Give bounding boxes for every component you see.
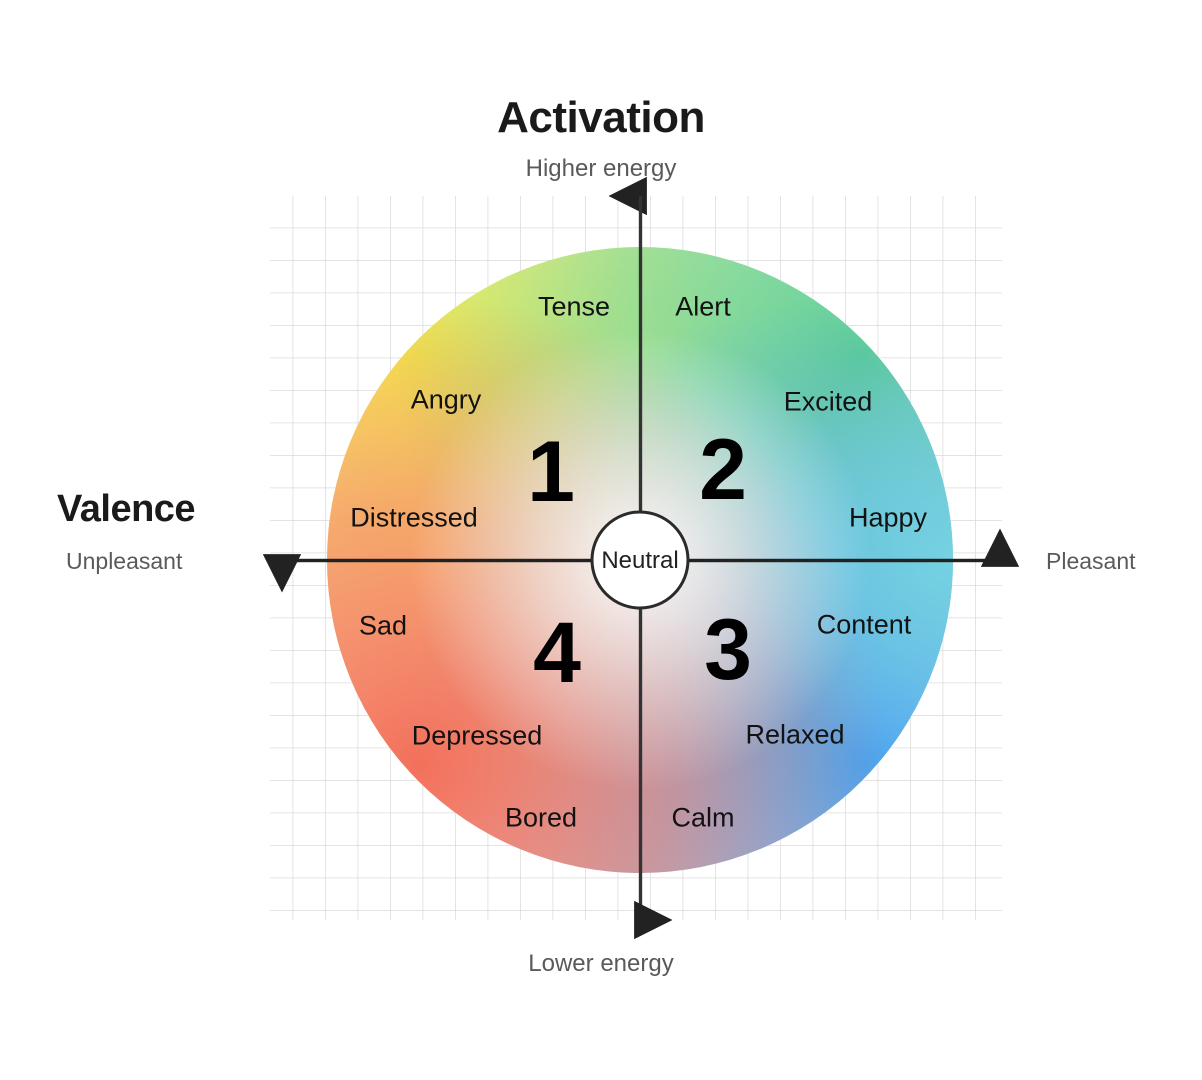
quadrant-number-1: 1 — [527, 429, 575, 515]
emotion-label-calm: Calm — [671, 803, 734, 834]
emotion-label-happy: Happy — [849, 503, 927, 534]
emotion-label-excited: Excited — [784, 387, 873, 418]
higher-energy-label: Higher energy — [0, 155, 1202, 183]
emotion-label-sad: Sad — [359, 611, 407, 642]
emotion-label-distressed: Distressed — [350, 503, 478, 534]
emotion-label-content: Content — [817, 610, 912, 641]
valence-axis-title: Valence — [57, 488, 195, 531]
activation-axis-title: Activation — [0, 93, 1202, 143]
quadrant-number-4: 4 — [533, 610, 581, 696]
emotion-label-angry: Angry — [411, 385, 482, 416]
lower-energy-label: Lower energy — [0, 950, 1202, 978]
quadrant-number-3: 3 — [704, 607, 752, 693]
unpleasant-label: Unpleasant — [66, 548, 182, 575]
pleasant-label: Pleasant — [1046, 548, 1136, 575]
emotion-label-relaxed: Relaxed — [745, 720, 844, 751]
emotion-label-alert: Alert — [675, 292, 731, 323]
emotion-label-tense: Tense — [538, 292, 610, 323]
quadrant-number-2: 2 — [699, 427, 747, 513]
emotion-label-bored: Bored — [505, 803, 577, 834]
neutral-label: Neutral — [601, 547, 678, 575]
emotion-label-depressed: Depressed — [412, 721, 543, 752]
